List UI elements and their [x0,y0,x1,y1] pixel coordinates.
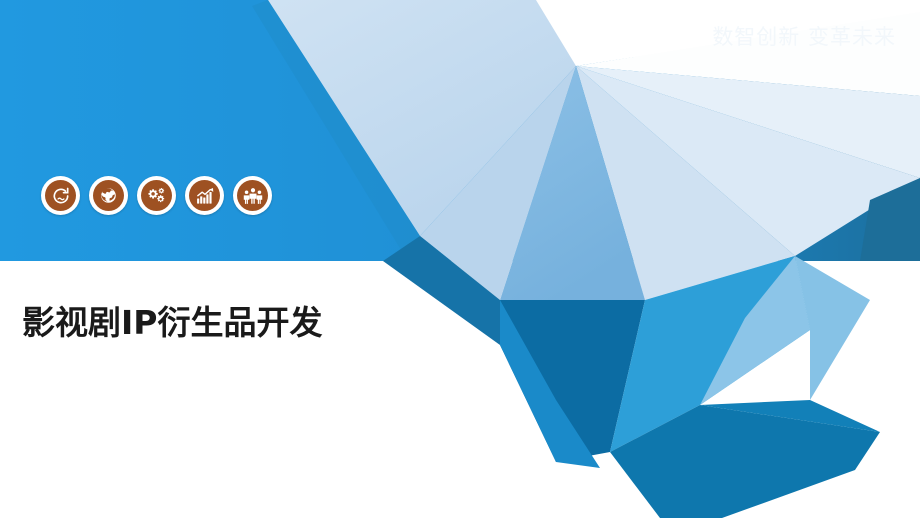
recycle-refresh-icon [45,180,76,211]
background-polygon-artwork [0,0,920,518]
slide-tagline: 数智创新 变革未来 [712,27,896,48]
gears-icon [141,180,172,211]
band-bottom-edge [0,261,383,264]
people-group-icon [237,180,268,211]
bar-chart-growth-icon [189,180,220,211]
presentation-slide: 数智创新 变革未来 [0,0,920,518]
globe-icon [93,180,124,211]
page-title: 影视剧IP衍生品开发 [22,296,322,344]
icon-badge-people[interactable] [233,176,272,215]
icon-badge-bar-chart[interactable] [185,176,224,215]
icon-badge-row [41,176,272,215]
icon-badge-globe[interactable] [89,176,128,215]
icon-badge-gears[interactable] [137,176,176,215]
icon-badge-recycle[interactable] [41,176,80,215]
